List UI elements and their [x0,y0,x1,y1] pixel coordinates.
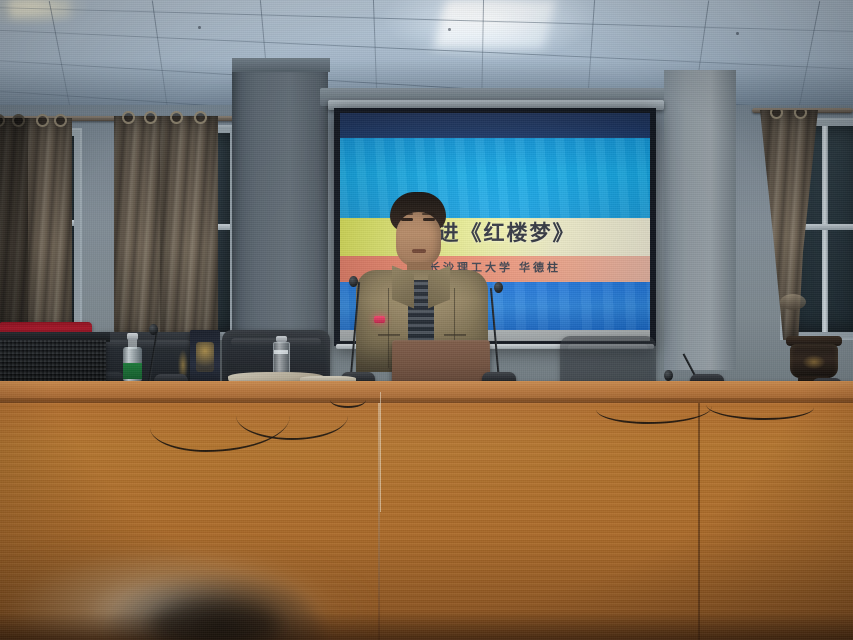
ceiling-sprinkler-icon [198,26,201,29]
pillar-right [664,70,736,370]
presenter-mouth [412,249,426,253]
curtain-left-2 [28,118,72,350]
curtain-left-3 [114,116,166,352]
bottle-cap [127,333,138,340]
slide-band-navy [340,113,650,138]
laptop[interactable] [392,340,490,386]
jacket-seam [388,288,389,368]
microphone-capsule-icon [494,282,503,293]
ceiling-sprinkler-icon [736,32,739,35]
presenter-eyebrow [422,213,435,215]
microphone-capsule-icon [664,370,673,381]
microphone-cable-vertical [380,392,381,512]
presenter-badge [374,316,385,323]
microphone-cable [330,392,366,408]
presenter-eye [401,218,413,221]
plaque-crest-icon [196,342,214,372]
curtain-left-4 [160,116,218,354]
pillar-left [232,64,328,364]
bottle-label [123,363,142,379]
curtain-tieback-right [780,294,806,310]
podium-panel-seam [698,403,700,640]
microphone-capsule-icon [149,324,158,335]
jacket-pocket [378,334,400,336]
urn-gold-decoration [798,352,830,372]
pillar-left-capital [232,58,330,72]
ceiling-sprinkler-icon [448,28,451,31]
presenter-eye [423,218,435,221]
award-plaque [190,330,220,388]
bottle-band [274,350,288,354]
microphone-capsule-icon [349,276,358,287]
ceiling-light-panel [434,0,556,48]
jacket-pocket [444,334,466,336]
photograph: 走进《红楼梦》 长沙理工大学 华德柱 [0,0,853,640]
presenter-eyebrow [400,213,413,215]
